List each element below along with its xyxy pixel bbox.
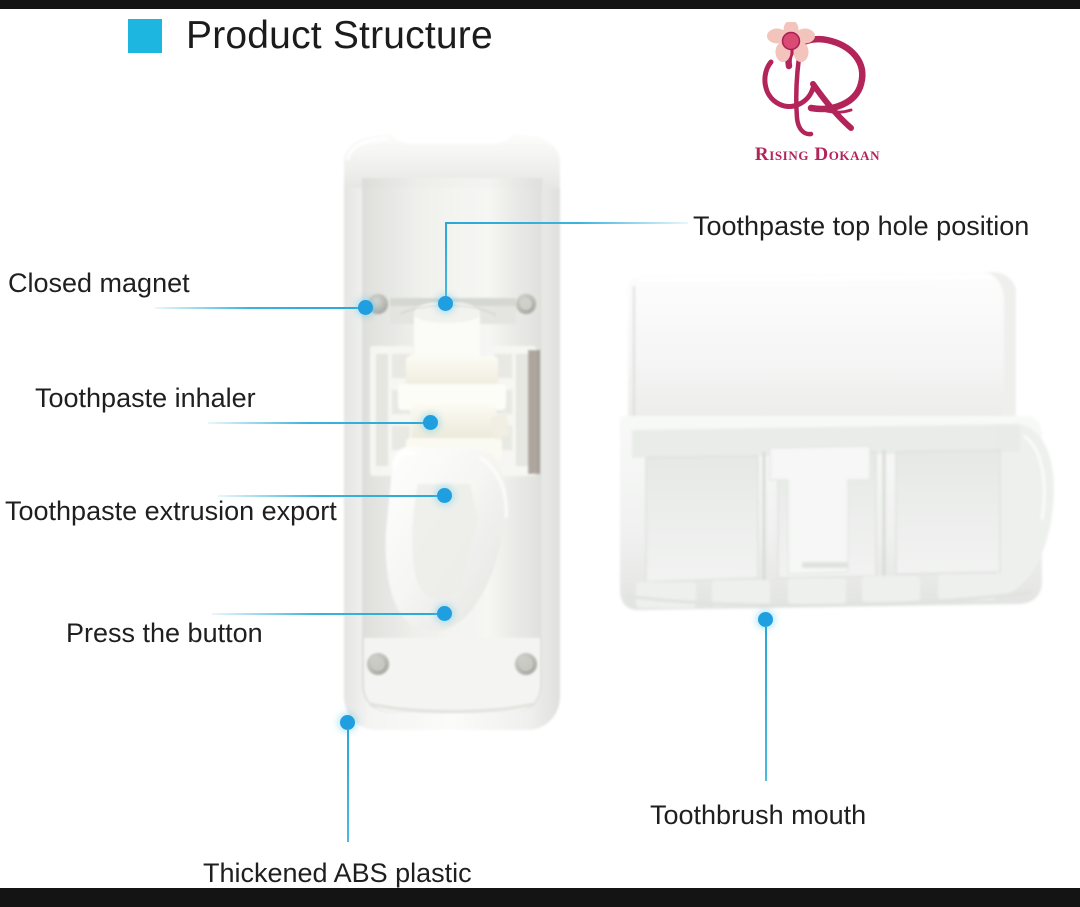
callout-dot-toothpaste-top-hole-position [438,296,453,311]
callout-label-toothpaste-extrusion-export: Toothpaste extrusion export [5,496,337,527]
callout-label-thickened-abs-plastic: Thickened ABS plastic [203,858,472,889]
callout-line-toothpaste-top-hole-vertical [445,223,447,303]
logo-wordmark: Rising Dokaan [735,144,900,166]
callout-label-toothbrush-mouth: Toothbrush mouth [650,800,866,831]
toothbrush-holder-photo [612,266,1064,628]
callout-label-press-the-button: Press the button [66,618,263,649]
callout-line-toothpaste-top-hole-horizontal [445,222,688,224]
callout-label-toothpaste-top-hole-position: Toothpaste top hole position [693,211,1029,242]
callout-line-toothpaste-inhaler [208,422,430,424]
page-title: Product Structure [186,14,493,58]
brand-logo: Rising Dokaan [735,22,900,182]
square-marker-icon [128,19,162,53]
toothpaste-dispenser-photo [330,118,574,748]
callout-line-closed-magnet [155,307,365,309]
letterbox-bottom-bar [0,888,1080,907]
callout-line-toothpaste-extrusion-export [218,495,443,497]
callout-line-thickened-abs-plastic [347,728,349,842]
callout-label-closed-magnet: Closed magnet [8,268,190,299]
page-heading: Product Structure [128,14,493,58]
letterbox-top-bar [0,0,1080,9]
callout-dot-toothpaste-extrusion-export [437,488,452,503]
callout-dot-toothpaste-inhaler [423,415,438,430]
product-structure-infographic: Product Structure Rising Dokaan [0,0,1080,907]
callout-line-press-the-button [212,613,444,615]
logo-monogram-r-icon [735,22,900,144]
callout-dot-press-the-button [437,606,452,621]
callout-label-toothpaste-inhaler: Toothpaste inhaler [35,383,256,414]
callout-dot-closed-magnet [358,300,373,315]
callout-line-toothbrush-mouth [765,625,767,781]
